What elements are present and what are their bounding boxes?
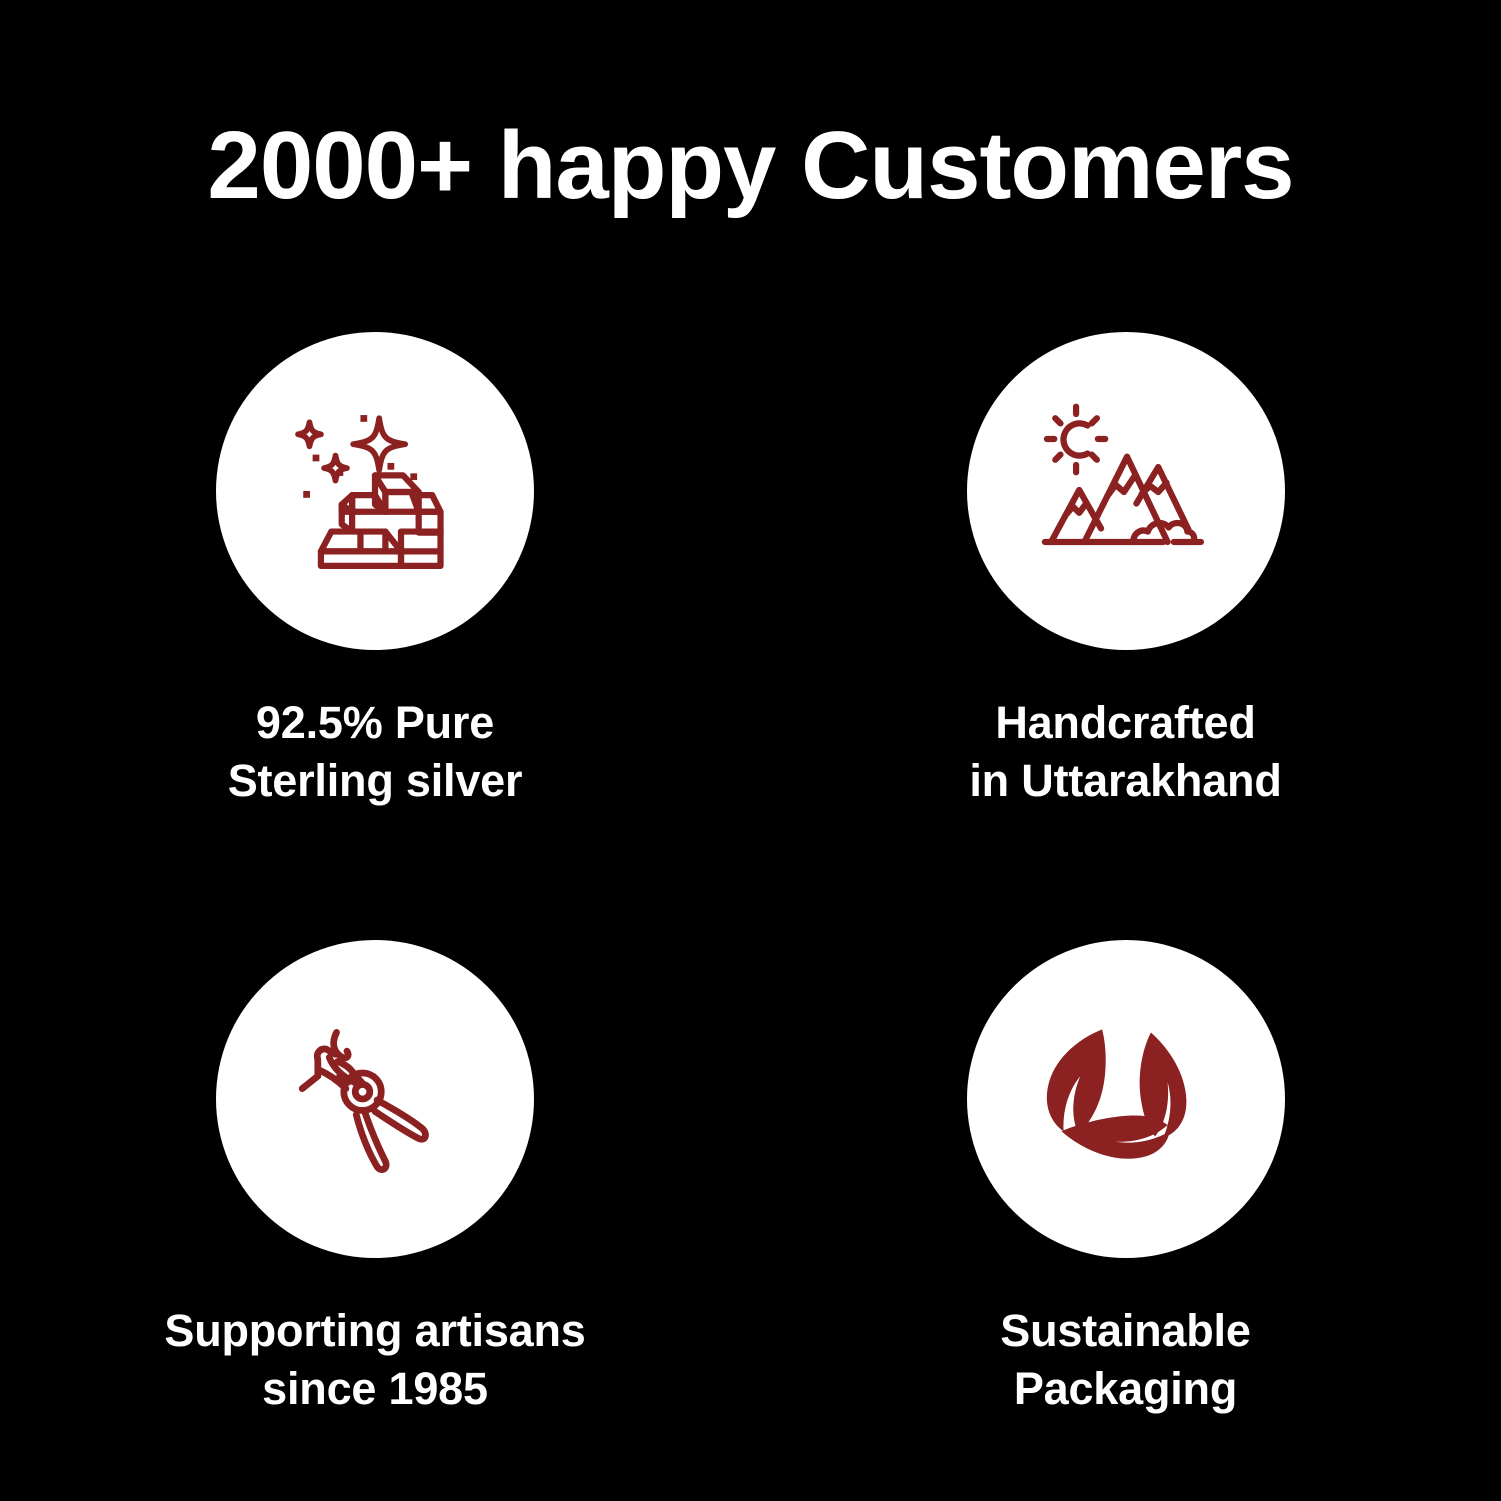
icon-badge xyxy=(967,332,1285,650)
icon-badge xyxy=(216,332,534,650)
pliers-tool-icon xyxy=(271,995,479,1203)
feature-label: Handcrafted in Uttarakhand xyxy=(969,694,1281,810)
icon-badge xyxy=(216,940,534,1258)
feature-item-supporting-artisans: Supporting artisans since 1985 xyxy=(0,940,750,1240)
feature-item-sustainable-packaging: Sustainable Packaging xyxy=(750,940,1501,1240)
three-leaves-recycle-icon xyxy=(1022,995,1230,1203)
feature-item-handcrafted: Handcrafted in Uttarakhand xyxy=(750,332,1501,632)
features-grid: 92.5% Pure Sterling silver xyxy=(0,332,1501,1240)
mountains-sun-icon xyxy=(1022,387,1230,595)
feature-item-sterling-silver: 92.5% Pure Sterling silver xyxy=(0,332,750,632)
feature-label: Supporting artisans since 1985 xyxy=(164,1302,585,1418)
feature-label: 92.5% Pure Sterling silver xyxy=(228,694,523,810)
feature-label: Sustainable Packaging xyxy=(1000,1302,1250,1418)
silver-bars-sparkle-icon xyxy=(271,387,479,595)
page-title: 2000+ happy Customers xyxy=(0,118,1501,214)
promo-banner: 2000+ happy Customers xyxy=(0,0,1501,1501)
icon-badge xyxy=(967,940,1285,1258)
